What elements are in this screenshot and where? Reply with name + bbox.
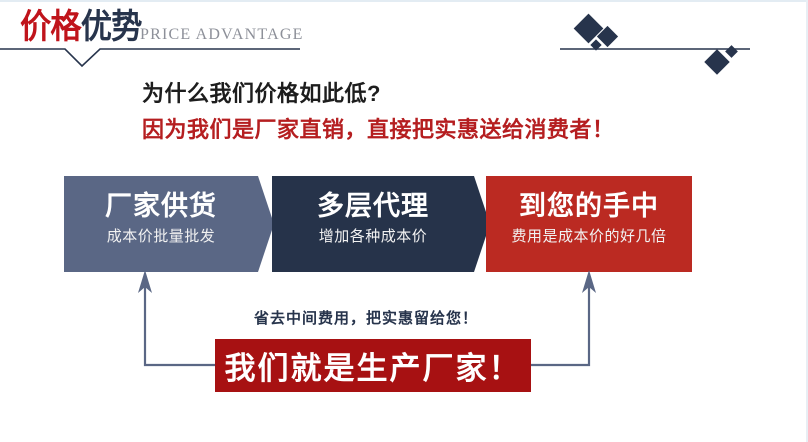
page-subtitle: PRICE ADVANTAGE	[140, 26, 304, 44]
flow-step-1: 厂家供货 成本价批量批发	[64, 176, 258, 272]
flow-step-1-title: 厂家供货	[64, 190, 258, 224]
page-title-part-b: 优势	[81, 7, 142, 47]
flow-step-2-title: 多层代理	[272, 190, 474, 224]
flow-step-3-subtitle: 费用是成本价的好几倍	[486, 224, 692, 250]
flow-diagram: 厂家供货 成本价批量批发 多层代理 增加各种成本价 到您的手中 费用是成本价的好…	[0, 176, 808, 272]
page-title: 价格优势	[20, 8, 141, 46]
bottom-note: 省去中间费用，把实惠留给您！	[0, 307, 770, 328]
flow-step-1-subtitle: 成本价批量批发	[64, 224, 258, 250]
header: 价格优势 PRICE ADVANTAGE	[0, 0, 808, 80]
flow-step-2-subtitle: 增加各种成本价	[272, 224, 474, 250]
flow-step-3-title: 到您的手中	[486, 190, 692, 224]
bottom-banner: 我们就是生产厂家！	[215, 339, 531, 392]
page-title-part-a: 价格	[20, 7, 81, 47]
headline-answer: 因为我们是厂家直销，直接把实惠送给消费者！	[142, 112, 615, 144]
header-rule-left	[0, 44, 300, 70]
flow-step-2: 多层代理 增加各种成本价	[272, 176, 474, 272]
flow-step-3: 到您的手中 费用是成本价的好几倍	[486, 176, 692, 272]
headline-question: 为什么我们价格如此低?	[142, 76, 381, 108]
poster-canvas: 价格优势 PRICE ADVANTAGE 为什么我们价格如此低? 因为我们是厂家…	[0, 0, 808, 442]
